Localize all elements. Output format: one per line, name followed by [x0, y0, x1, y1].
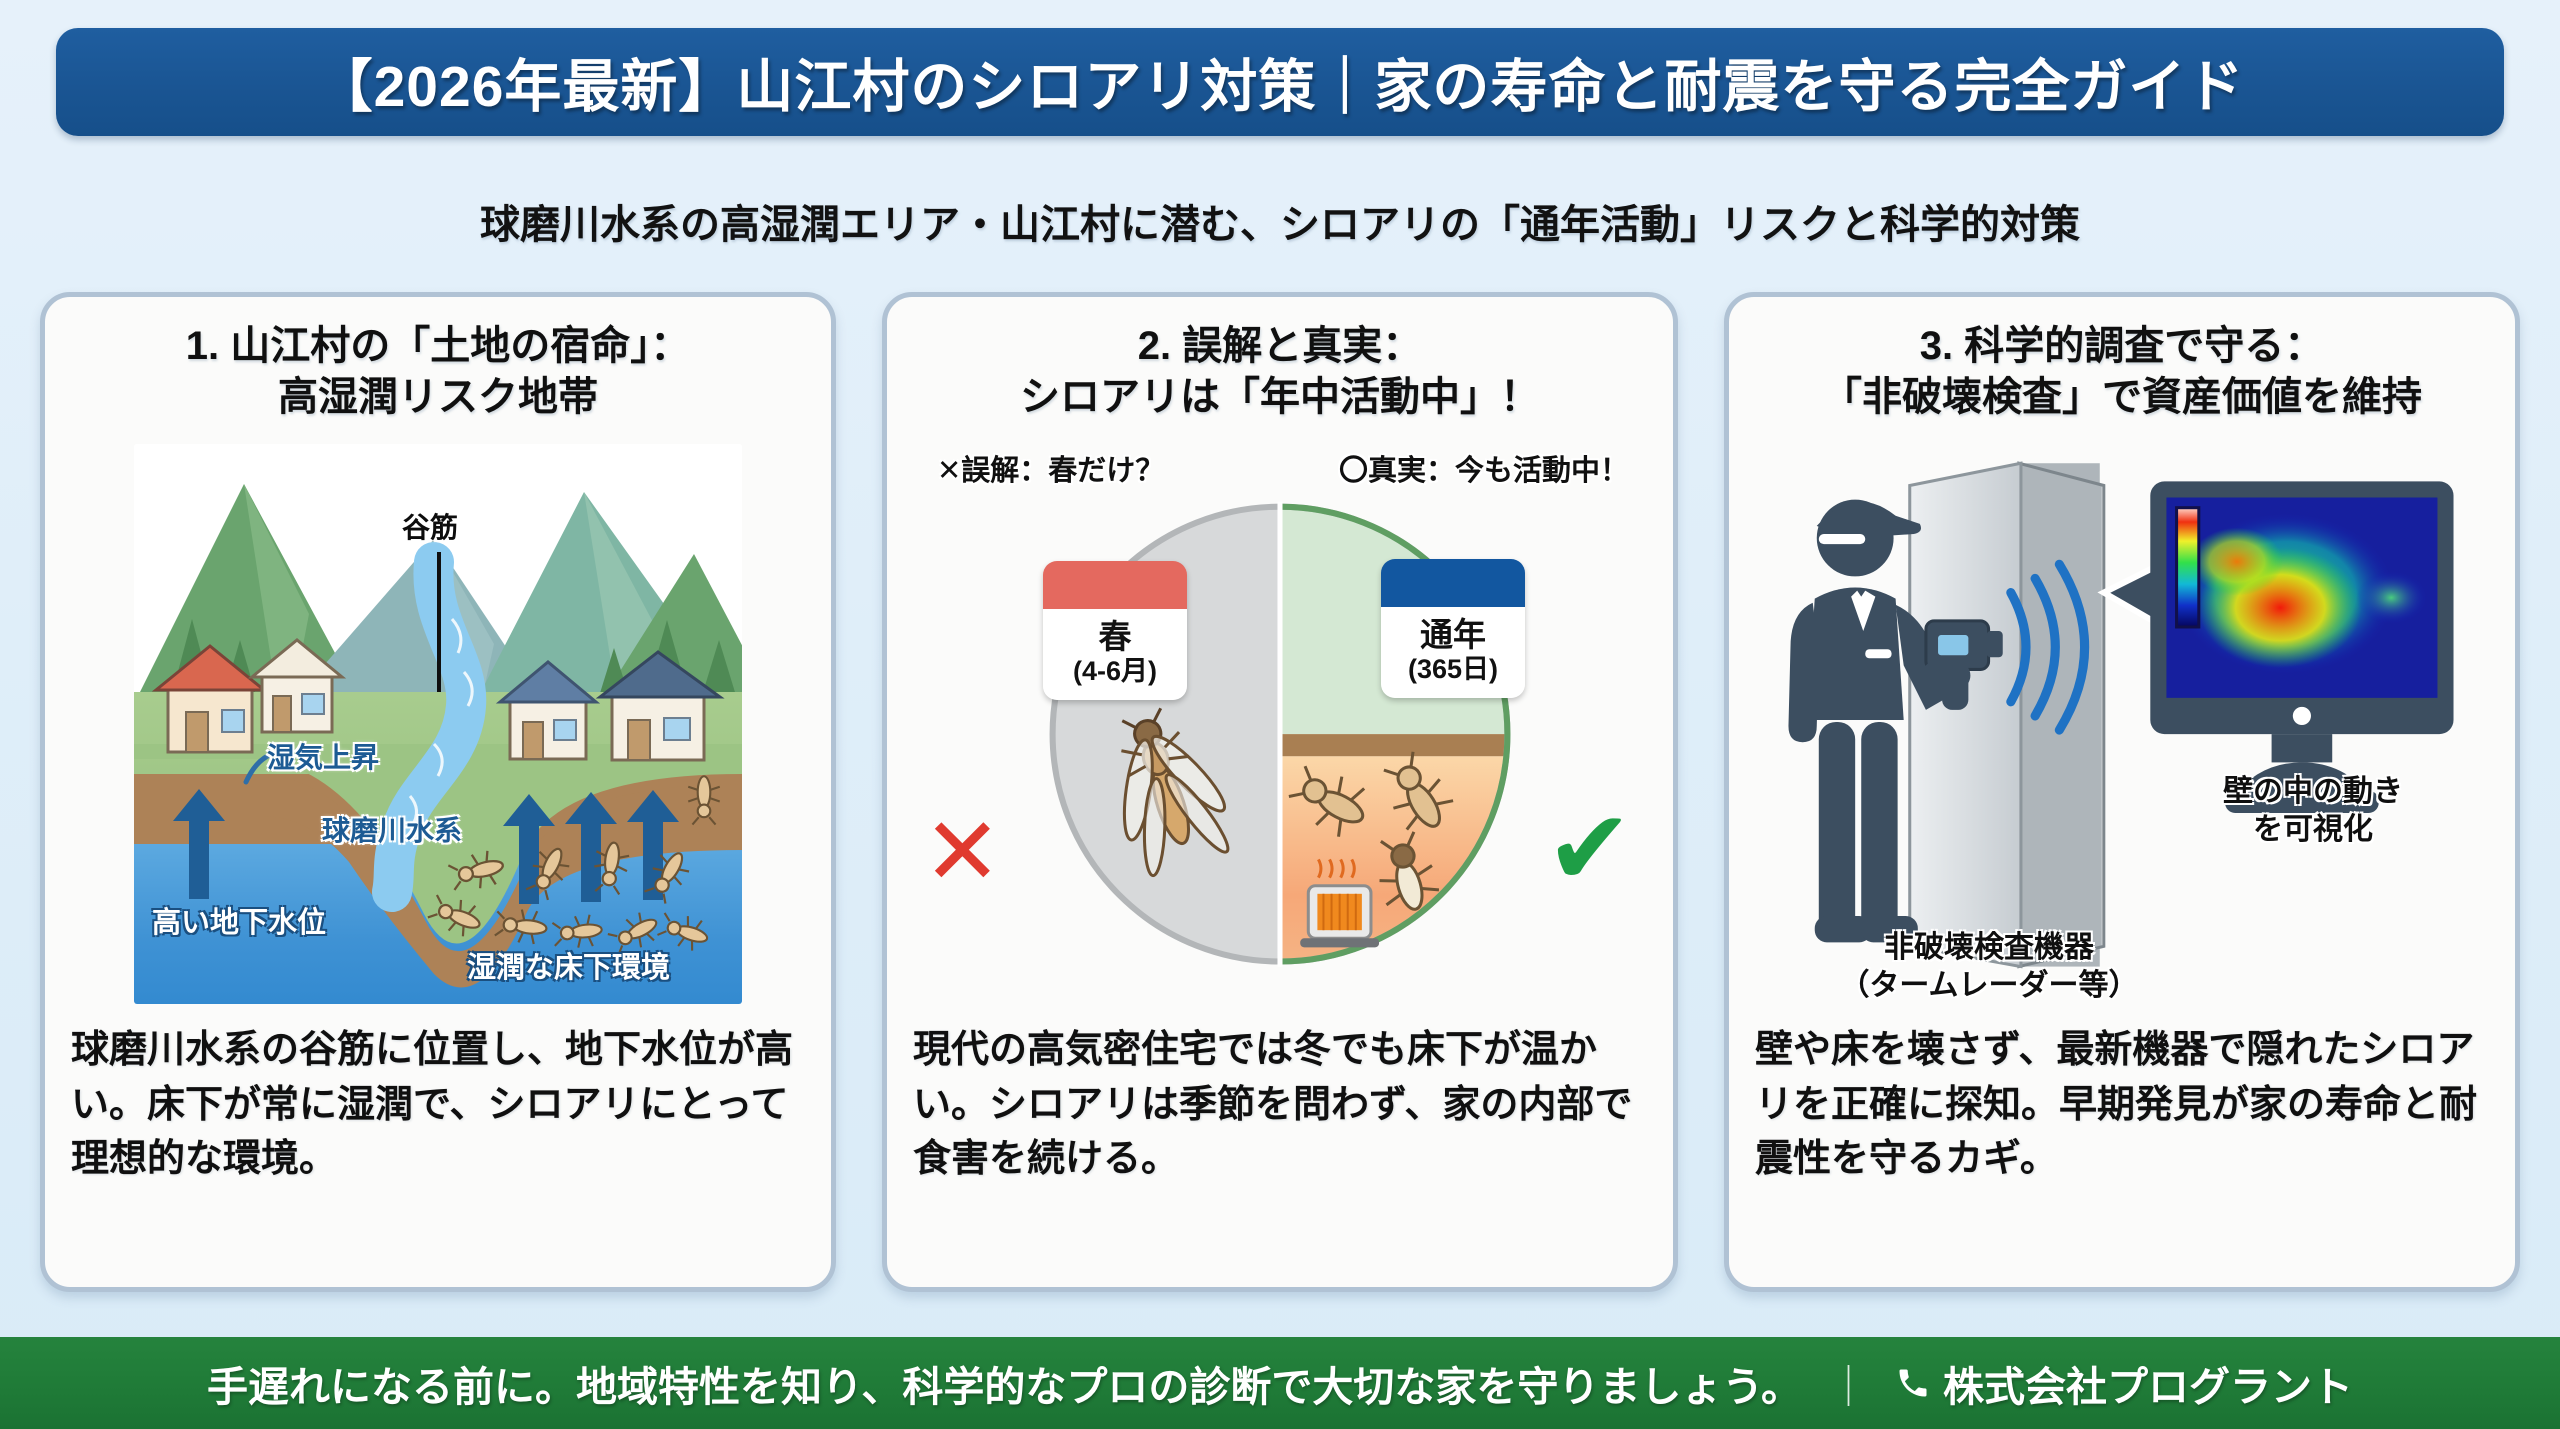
card-2-figure: ✕誤解：春だけ？ 〇真実：今も活動中！: [913, 441, 1647, 1007]
card-3-figure: 非破壊検査機器 （タームレーダー等） 壁の中の動き を可視化: [1755, 441, 2489, 1007]
phone-icon: [1895, 1365, 1931, 1401]
label-crawlspace: 湿潤な床下環境: [467, 944, 670, 986]
label-valley: 谷筋: [402, 506, 458, 546]
card-2-title: 2. 誤解と真実： シロアリは「年中活動中」！: [1020, 321, 1540, 429]
footer-brand-text: 株式会社プログラント: [1943, 1353, 2353, 1413]
calendar-yearround-title: 通年: [1385, 617, 1521, 654]
footer-separator: ｜: [1828, 1353, 1869, 1413]
split-circle-diagram: [913, 441, 1647, 1007]
label-river: 球磨川水系: [322, 809, 462, 849]
label-screen: 壁の中の動き を可視化: [2163, 773, 2463, 849]
page-title: 【2026年最新】山江村のシロアリ対策｜家の寿命と耐震を守る完全ガイド: [316, 41, 2245, 123]
calendar-spring-title: 春: [1047, 619, 1183, 656]
monitor-icon: [2150, 481, 2453, 813]
card-1-title: 1. 山江村の「土地の宿命」： 高湿潤リスク地帯: [186, 321, 690, 429]
page-subtitle: 球磨川水系の高湿潤エリア・山江村に潜む、シロアリの「通年活動」リスクと科学的対策: [0, 192, 2560, 250]
card-3-body: 壁や床を壊さず、最新機器で隠れたシロアリを正確に探知。早期発見が家の寿命と耐震性…: [1755, 1023, 2489, 1187]
calendar-spring: 春 (4-6月): [1043, 561, 1187, 700]
card-3-title: 3. 科学的調査で守る： 「非破壊検査」で資産価値を維持: [1822, 321, 2422, 429]
header-bar: 【2026年最新】山江村のシロアリ対策｜家の寿命と耐震を守る完全ガイド: [56, 28, 2504, 136]
termite-icon: [426, 776, 720, 958]
heatmap-display: [2166, 498, 2437, 698]
landscape-scene-illustration: 谷筋 湿気上昇 球磨川水系 高い地下水位 湿潤な床下環境: [134, 444, 742, 1004]
card-2-body: 現代の高気密住宅では冬でも床下が温かい。シロアリは季節を問わず、家の内部で食害を…: [913, 1023, 1647, 1187]
label-groundwater: 高い地下水位: [152, 899, 326, 941]
card-inspection: 3. 科学的調査で守る： 「非破壊検査」で資産価値を維持: [1724, 292, 2520, 1292]
label-device: 非破壊検査機器 （タームレーダー等）: [1799, 929, 2179, 1005]
calendar-yearround-sub: (365日): [1385, 654, 1521, 684]
card-1-body: 球磨川水系の谷筋に位置し、地下水位が高い。床下が常に湿潤で、シロアリにとって理想…: [71, 1023, 805, 1187]
calendar-spring-sub: (4-6月): [1047, 656, 1183, 686]
footer-message: 手遅れになる前に。地域特性を知り、科学的なプロの診断で大切な家を守りましょう。: [207, 1353, 1802, 1413]
label-moisture: 湿気上昇: [267, 736, 379, 776]
calendar-yearround: 通年 (365日): [1381, 559, 1525, 698]
card-1-figure: 谷筋 湿気上昇 球磨川水系 高い地下水位 湿潤な床下環境: [71, 441, 805, 1007]
comparison-circle-illustration: ✕誤解：春だけ？ 〇真実：今も活動中！: [913, 441, 1647, 1007]
inspector-illustration: 非破壊検査機器 （タームレーダー等） 壁の中の動き を可視化: [1755, 441, 2489, 1007]
card-land-risk: 1. 山江村の「土地の宿命」： 高湿潤リスク地帯: [40, 292, 836, 1292]
footer-bar: 手遅れになる前に。地域特性を知り、科学的なプロの診断で大切な家を守りましょう。 …: [0, 1337, 2560, 1429]
cross-mark-icon: ✕: [923, 805, 1002, 899]
check-mark-icon: ✔: [1546, 797, 1633, 901]
footer-brand[interactable]: 株式会社プログラント: [1895, 1353, 2353, 1413]
cards-container: 1. 山江村の「土地の宿命」： 高湿潤リスク地帯: [40, 292, 2520, 1292]
inspection-scene: [1755, 441, 2489, 1007]
card-myth-truth: 2. 誤解と真実： シロアリは「年中活動中」！ ✕誤解：春だけ？ 〇真実：今も活…: [882, 292, 1678, 1292]
